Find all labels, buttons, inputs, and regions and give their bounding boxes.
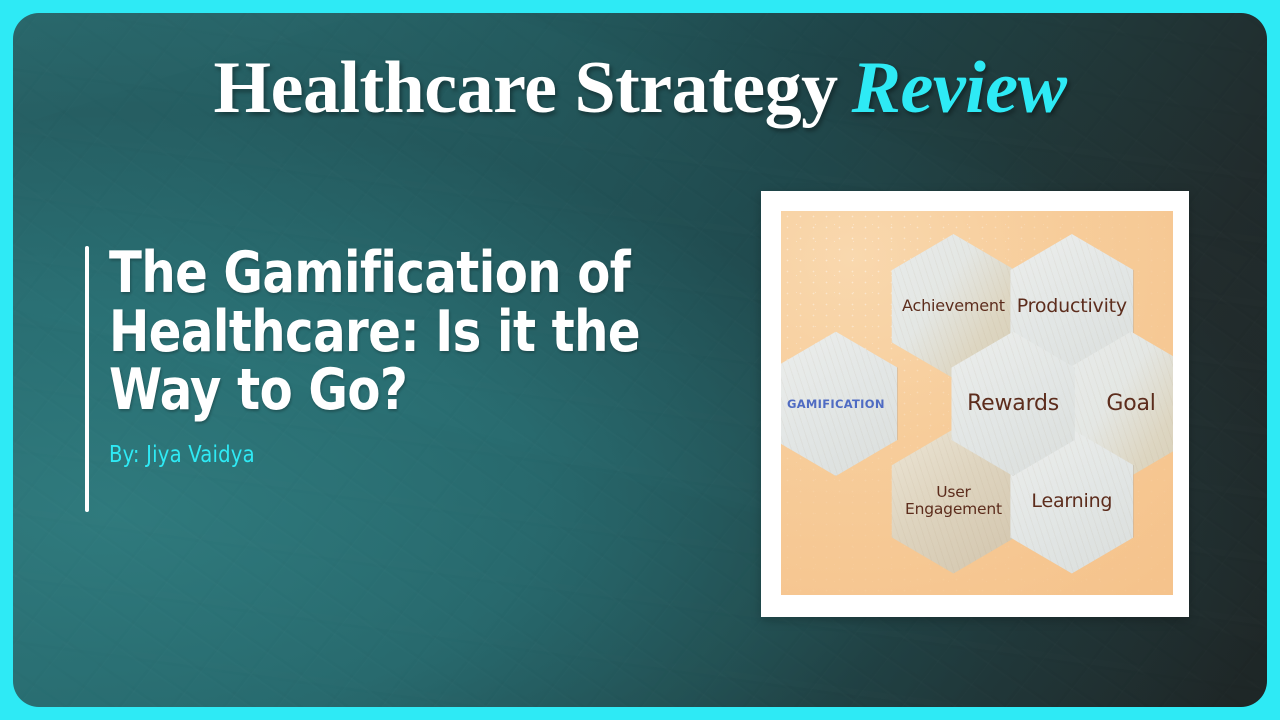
hex-tile-label-gamification: GAMIFICATION <box>783 397 889 410</box>
hex-tile-label-achievement: Achievement <box>898 297 1009 315</box>
slide-canvas: Healthcare StrategyReview The Gamificati… <box>0 0 1280 720</box>
hex-tile-label-rewards: Rewards <box>963 391 1063 416</box>
hex-tile-label-learning: Learning <box>1027 491 1116 512</box>
slide-background: Healthcare StrategyReview The Gamificati… <box>13 13 1267 707</box>
article-title: The Gamification of Healthcare: Is it th… <box>109 244 688 420</box>
hex-tile-label-productivity: Productivity <box>1013 296 1131 317</box>
gamification-hexagon-tiles-photo: GAMIFICATION Achievement Productivity Re… <box>781 211 1173 595</box>
article-byline: By: Jiya Vaidya <box>109 442 694 468</box>
publication-title-accent: Review <box>838 47 1067 129</box>
hex-tile-label-goal: Goal <box>1102 391 1159 416</box>
photo-card: GAMIFICATION Achievement Productivity Re… <box>761 191 1189 617</box>
hex-tile-gamification: GAMIFICATION <box>781 332 898 476</box>
hex-tile-label-user-engagement: User Engagement <box>892 484 1015 519</box>
publication-title-main: Healthcare Strategy <box>214 47 838 129</box>
article-title-block: The Gamification of Healthcare: Is it th… <box>85 244 725 468</box>
title-accent-rule <box>85 246 89 512</box>
publication-header: Healthcare StrategyReview <box>13 51 1267 125</box>
